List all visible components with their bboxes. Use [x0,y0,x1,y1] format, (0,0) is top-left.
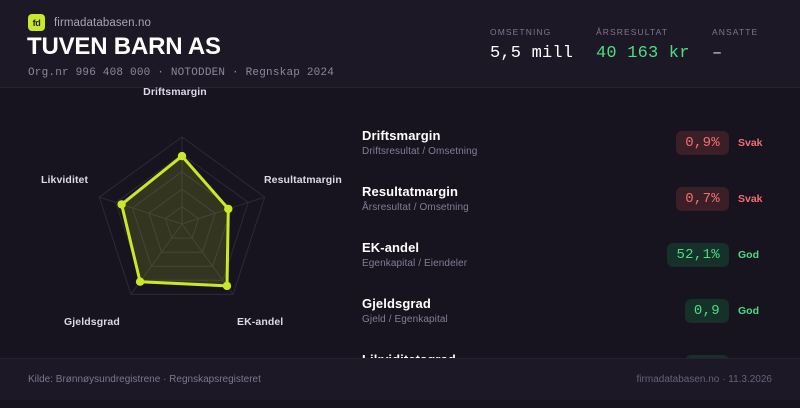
ratio-result: 0,9 God [685,299,772,323]
page-title: TUVEN BARN AS [27,33,221,61]
radar-axis-label-resultatmargin: Resultatmargin [264,174,342,186]
radar-chart-svg [0,88,350,358]
radar-axis-label-gjeldsgrad: Gjeldsgrad [64,316,120,328]
firmadatabasen-logo-icon: fd [28,14,45,31]
status-badge: Svak [738,193,772,205]
ratio-result: 52,1% God [667,243,772,267]
status-badge: God [738,305,772,317]
company-meta: Org.nr 996 408 000 · NOTODDEN · Regnskap… [28,67,334,79]
kpi-value: – [712,44,772,63]
status-badge: Svak [738,137,772,149]
radar-axis-label-driftsmargin: Driftsmargin [0,86,350,98]
ratio-value-badge: 0,9 [685,299,729,323]
kpi-value: 5,5 mill [490,44,596,63]
radar-axis-label-ek-andel: EK-andel [237,316,283,328]
footer-source: Kilde: Brønnøysundregistrene · Regnskaps… [28,374,261,385]
ratio-row-gjeldsgrad[interactable]: Gjeldsgrad Gjeld / Egenkapital 0,9 God [362,296,772,336]
footer-stamp: firmadatabasen.no · 11.3.2026 [637,374,772,385]
kpi-label: OMSETNING [490,27,596,37]
report-card: fd firmadatabasen.no TUVEN BARN AS Org.n… [0,0,800,400]
kpi-omsetning: OMSETNING 5,5 mill [490,27,596,63]
header: fd firmadatabasen.no TUVEN BARN AS Org.n… [0,0,800,88]
main-content: Driftsmargin Resultatmargin EK-andel Gje… [0,88,800,358]
kpi-ansatte: ANSATTE – [712,27,772,63]
radar-chart: Driftsmargin Resultatmargin EK-andel Gje… [0,88,350,358]
brand[interactable]: fd firmadatabasen.no [28,14,151,31]
ratio-value-badge: 52,1% [667,243,729,267]
status-badge: God [738,249,772,261]
kpi-arsresultat: ÅRSRESULTAT 40 163 kr [596,27,712,63]
ratio-row-ek-andel[interactable]: EK-andel Egenkapital / Eiendeler 52,1% G… [362,240,772,280]
ratio-row-driftsmargin[interactable]: Driftsmargin Driftsresultat / Omsetning … [362,128,772,168]
ratio-value-badge: 0,7% [676,187,729,211]
radar-series-area [122,156,229,286]
ratio-value-badge: 0,9% [676,131,729,155]
footer: Kilde: Brønnøysundregistrene · Regnskaps… [0,358,800,400]
kpi-label: ANSATTE [712,27,772,37]
ratio-result: 0,7% Svak [676,187,772,211]
kpi-value: 40 163 kr [596,44,712,63]
ratio-result: 0,9% Svak [676,131,772,155]
kpi-summary: OMSETNING 5,5 mill ÅRSRESULTAT 40 163 kr… [490,27,772,63]
kpi-label: ÅRSRESULTAT [596,27,712,37]
brand-name: firmadatabasen.no [54,17,151,29]
ratio-row-resultatmargin[interactable]: Resultatmargin Årsresultat / Omsetning 0… [362,184,772,224]
radar-axis-label-likviditet: Likviditet [41,174,88,186]
